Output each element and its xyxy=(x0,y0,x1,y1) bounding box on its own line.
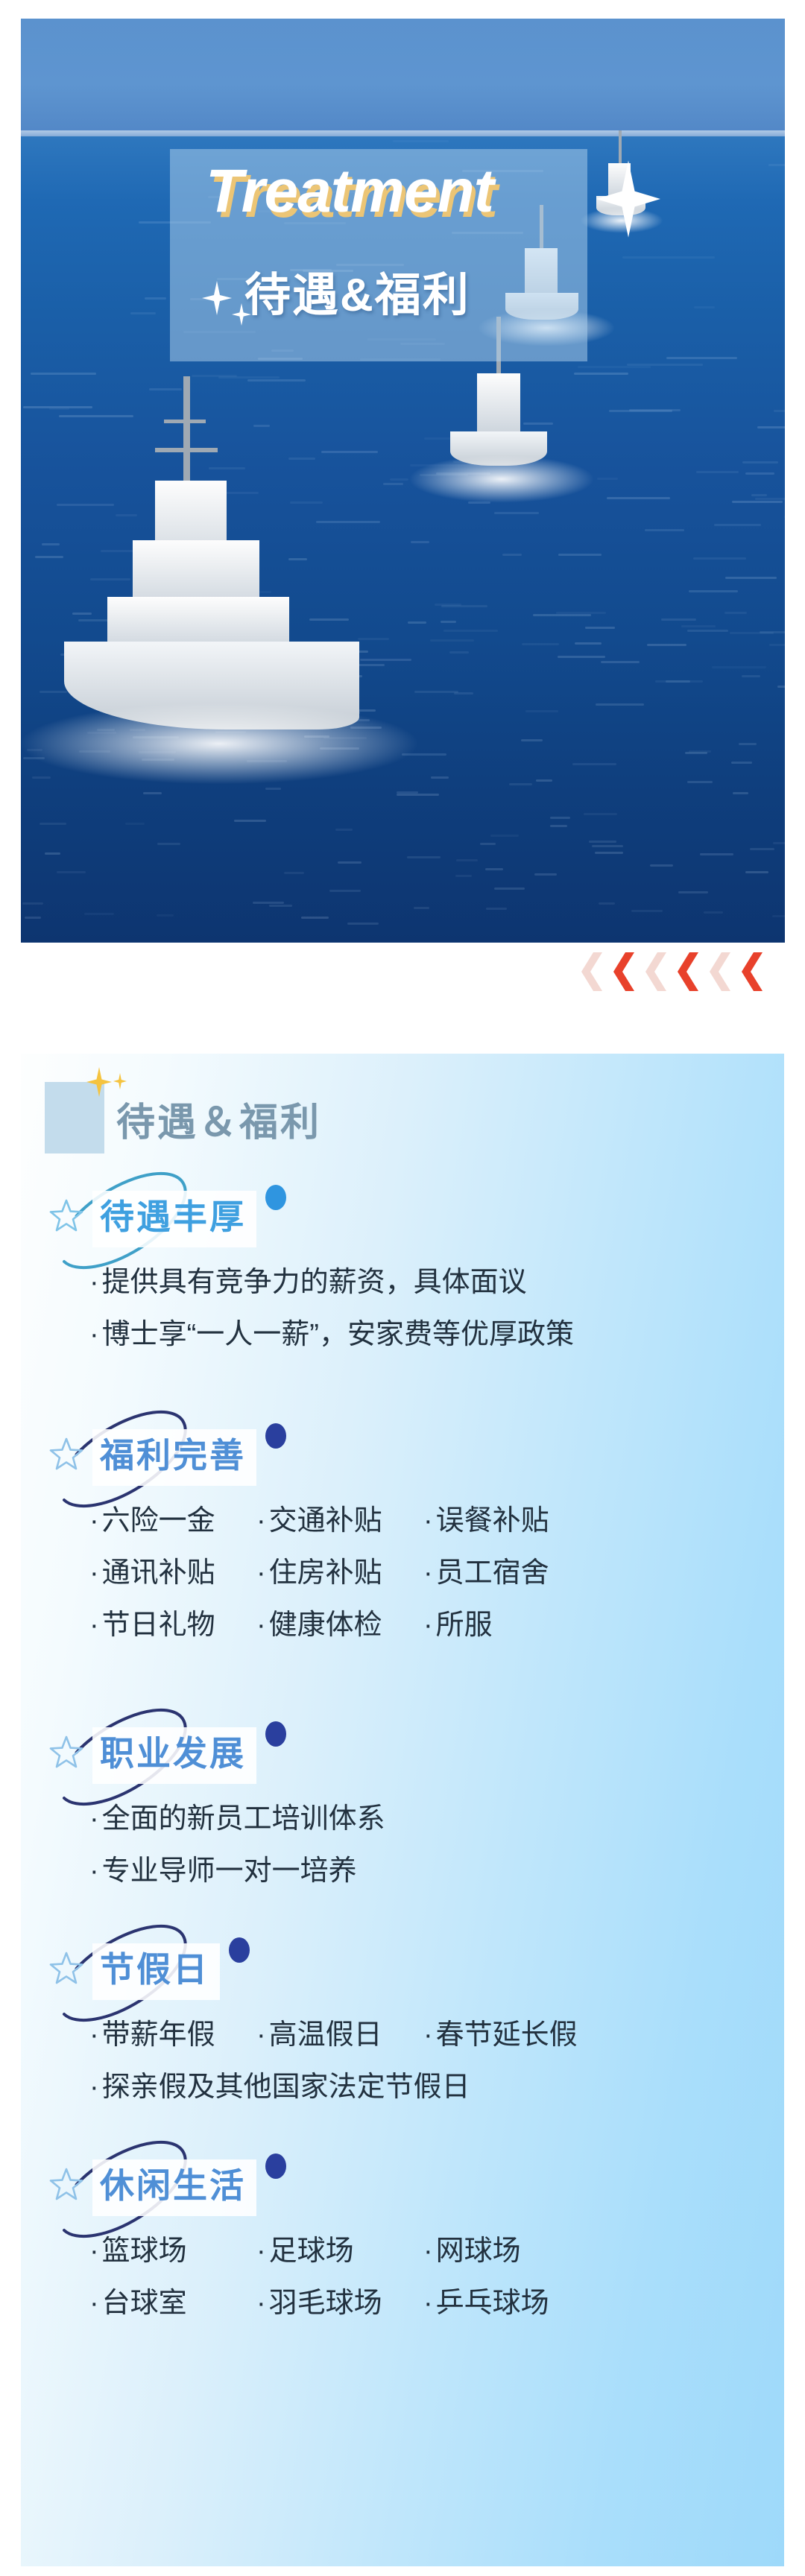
benefit-item: ·探亲假及其他国家法定节假日 xyxy=(89,2066,470,2109)
benefit-item-label: 通讯补贴 xyxy=(102,1557,215,1589)
chevron-left-icon xyxy=(638,952,666,991)
bullet-dot: · xyxy=(256,1557,266,1589)
benefit-item-label: 所服 xyxy=(436,1610,493,1641)
benefit-item: ·篮球场 xyxy=(89,2230,256,2273)
benefit-item-row: ·六险一金·交通补贴·误餐补贴 xyxy=(89,1499,590,1542)
bullet-dot: · xyxy=(423,2235,433,2267)
benefit-item-row: ·探亲假及其他国家法定节假日 xyxy=(89,2066,590,2109)
benefit-item: ·专业导师一对一培养 xyxy=(89,1849,357,1893)
bullet-dot: · xyxy=(423,1557,433,1589)
benefit-item: ·交通补贴 xyxy=(256,1499,423,1542)
benefit-item-label: 交通补贴 xyxy=(269,1505,382,1537)
accent-dot xyxy=(265,1721,286,1747)
benefit-block-title: 福利完善 xyxy=(92,1429,256,1486)
benefit-item-label: 健康体检 xyxy=(269,1610,382,1641)
benefit-item-label: 六险一金 xyxy=(102,1505,215,1537)
bullet-dot: · xyxy=(89,2072,99,2103)
benefit-item-row: ·专业导师一对一培养 xyxy=(89,1849,385,1893)
benefit-item-label: 节日礼物 xyxy=(102,1610,215,1641)
benefit-item-label: 探亲假及其他国家法定节假日 xyxy=(102,2072,470,2103)
benefit-item-label: 春节延长假 xyxy=(436,2019,578,2051)
chevron-left-icon xyxy=(702,952,730,991)
benefit-item: ·住房补贴 xyxy=(256,1551,423,1595)
benefit-item: ·春节延长假 xyxy=(423,2013,590,2057)
benefit-block-title: 节假日 xyxy=(92,1943,220,2000)
benefit-item-label: 专业导师一对一培养 xyxy=(102,1855,357,1887)
benefit-item-label: 提供具有竞争力的薪资，具体面议 xyxy=(102,1267,527,1298)
benefit-item-list: ·篮球场·足球场·网球场·台球室·羽毛球场·乒乓球场 xyxy=(89,2230,590,2334)
benefit-item: ·所服 xyxy=(423,1604,590,1647)
bullet-dot: · xyxy=(256,1610,266,1641)
benefits-panel: 待遇＆福利 待遇丰厚·提供具有竞争力的薪资，具体面议·博士享“一人一薪”，安家费… xyxy=(21,1054,784,2566)
benefit-item-list: ·六险一金·交通补贴·误餐补贴·通讯补贴·住房补贴·员工宿舍·节日礼物·健康体检… xyxy=(89,1499,590,1656)
bullet-dot: · xyxy=(256,2019,266,2051)
sky-background xyxy=(21,19,785,138)
accent-dot xyxy=(229,1937,250,1963)
benefit-item: ·网球场 xyxy=(423,2230,590,2273)
bullet-dot: · xyxy=(89,1505,99,1537)
benefit-item-label: 带薪年假 xyxy=(102,2019,215,2051)
benefit-item-label: 羽毛球场 xyxy=(269,2288,382,2319)
sparkle-icon-large xyxy=(202,281,232,315)
section-title: 待遇＆福利 xyxy=(116,1091,321,1147)
benefit-item: ·误餐补贴 xyxy=(423,1499,590,1542)
benefit-item: ·通讯补贴 xyxy=(89,1551,256,1595)
accent-dot xyxy=(265,1423,286,1449)
star-outline-icon xyxy=(49,1198,83,1232)
benefit-item-label: 全面的新员工培训体系 xyxy=(102,1803,385,1835)
benefit-item: ·足球场 xyxy=(256,2230,423,2273)
benefit-item: ·博士享“一人一薪”，安家费等优厚政策 xyxy=(89,1313,574,1356)
benefit-item: ·高温假日 xyxy=(256,2013,423,2057)
four-point-star-icon xyxy=(596,160,660,238)
bullet-dot: · xyxy=(256,1505,266,1537)
ship-foreground xyxy=(43,376,394,779)
benefit-item: ·全面的新员工培训体系 xyxy=(89,1797,385,1841)
benefit-item-label: 员工宿舍 xyxy=(436,1557,549,1589)
bullet-dot: · xyxy=(89,1855,99,1887)
benefit-item: ·六险一金 xyxy=(89,1499,256,1542)
bullet-dot: · xyxy=(89,1319,99,1350)
benefit-item-label: 博士享“一人一薪”，安家费等优厚政策 xyxy=(102,1319,574,1350)
benefit-item-label: 篮球场 xyxy=(102,2235,187,2267)
benefit-item-list: ·提供具有竞争力的薪资，具体面议·博士享“一人一薪”，安家费等优厚政策 xyxy=(89,1261,574,1365)
benefit-item-row: ·博士享“一人一薪”，安家费等优厚政策 xyxy=(89,1313,574,1356)
benefit-item: ·羽毛球场 xyxy=(256,2282,423,2325)
accent-dot xyxy=(265,1185,286,1210)
star-outline-icon xyxy=(49,1951,83,1985)
benefit-item: ·节日礼物 xyxy=(89,1604,256,1647)
benefit-item-row: ·篮球场·足球场·网球场 xyxy=(89,2230,590,2273)
benefit-block-title: 待遇丰厚 xyxy=(92,1191,256,1247)
star-outline-icon xyxy=(49,1437,83,1471)
benefit-item-label: 网球场 xyxy=(436,2235,521,2267)
sparkle-icon-gold-large xyxy=(86,1067,112,1097)
chevron-decoration xyxy=(574,952,768,991)
benefit-item-label: 乒乓球场 xyxy=(436,2288,549,2319)
benefit-item-row: ·台球室·羽毛球场·乒乓球场 xyxy=(89,2282,590,2325)
benefit-item-label: 足球场 xyxy=(269,2235,354,2267)
hero-banner: Treatment 待遇&福利 xyxy=(21,19,785,943)
benefit-item: ·带薪年假 xyxy=(89,2013,256,2057)
bullet-dot: · xyxy=(89,1267,99,1298)
benefit-item-list: ·带薪年假·高温假日·春节延长假·探亲假及其他国家法定节假日 xyxy=(89,2013,590,2118)
chevron-left-icon xyxy=(734,952,763,991)
bullet-dot: · xyxy=(89,1557,99,1589)
chevron-left-icon xyxy=(606,952,634,991)
benefit-item-list: ·全面的新员工培训体系·专业导师一对一培养 xyxy=(89,1797,385,1902)
benefit-item: ·健康体检 xyxy=(256,1604,423,1647)
chevron-left-icon xyxy=(574,952,602,991)
benefit-block-title: 休闲生活 xyxy=(92,2159,256,2216)
benefit-item: ·乒乓球场 xyxy=(423,2282,590,2325)
bullet-dot: · xyxy=(89,1610,99,1641)
benefit-item-row: ·节日礼物·健康体检·所服 xyxy=(89,1604,590,1647)
bullet-dot: · xyxy=(423,1505,433,1537)
accent-dot xyxy=(265,2153,286,2179)
bullet-dot: · xyxy=(423,1610,433,1641)
bullet-dot: · xyxy=(89,2288,99,2319)
bullet-dot: · xyxy=(256,2235,266,2267)
bullet-dot: · xyxy=(423,2019,433,2051)
benefit-item-label: 误餐补贴 xyxy=(436,1505,549,1537)
sparkle-icon-small xyxy=(232,303,251,326)
benefit-item-row: ·通讯补贴·住房补贴·员工宿舍 xyxy=(89,1551,590,1595)
benefit-item-row: ·带薪年假·高温假日·春节延长假 xyxy=(89,2013,590,2057)
sparkle-icon-gold-small xyxy=(113,1073,127,1089)
benefit-item-row: ·全面的新员工培训体系 xyxy=(89,1797,385,1841)
benefit-item-row: ·提供具有竞争力的薪资，具体面议 xyxy=(89,1261,574,1304)
bullet-dot: · xyxy=(89,2019,99,2051)
star-outline-icon xyxy=(49,2167,83,2201)
benefit-item: ·台球室 xyxy=(89,2282,256,2325)
chevron-left-icon xyxy=(670,952,698,991)
section-header: 待遇＆福利 xyxy=(28,1063,416,1152)
benefit-item: ·提供具有竞争力的薪资，具体面议 xyxy=(89,1261,527,1304)
benefit-item-label: 高温假日 xyxy=(269,2019,382,2051)
benefit-item-label: 住房补贴 xyxy=(269,1557,382,1589)
bullet-dot: · xyxy=(89,1803,99,1835)
star-outline-icon xyxy=(49,1735,83,1769)
bullet-dot: · xyxy=(89,2235,99,2267)
bullet-dot: · xyxy=(256,2288,266,2319)
bullet-dot: · xyxy=(423,2288,433,2319)
benefit-item: ·员工宿舍 xyxy=(423,1551,590,1595)
benefit-block-title: 职业发展 xyxy=(92,1727,256,1784)
hero-title-cn: 待遇&福利 xyxy=(244,257,470,324)
benefit-item-label: 台球室 xyxy=(102,2288,187,2319)
hero-title-en: Treatment xyxy=(206,156,493,227)
